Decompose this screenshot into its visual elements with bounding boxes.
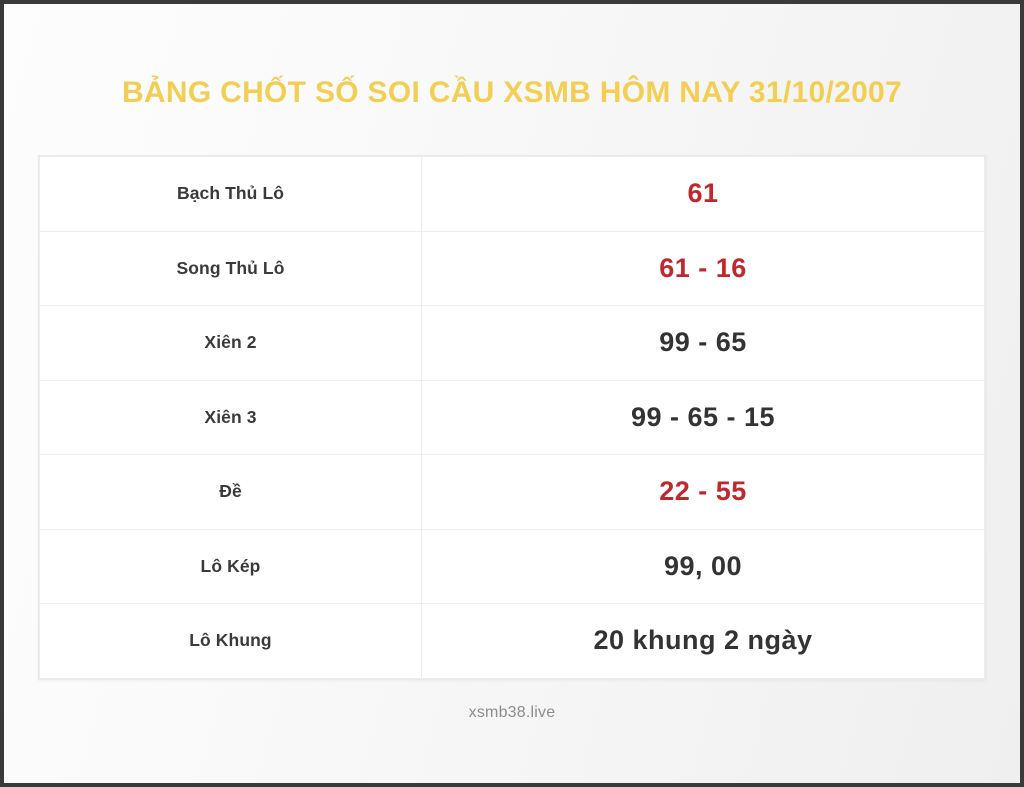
row-label: Bạch Thủ Lô <box>177 183 284 203</box>
row-value-cell: 61 - 16 <box>422 231 985 306</box>
row-label-cell: Song Thủ Lô <box>40 231 422 306</box>
row-value-cell: 61 <box>422 157 985 232</box>
row-label: Lô Khung <box>189 630 271 650</box>
row-value: 61 - 16 <box>659 253 747 283</box>
row-label: Lô Kép <box>201 556 261 576</box>
row-value-cell: 22 - 55 <box>422 455 985 530</box>
row-value-cell: 20 khung 2 ngày <box>422 604 985 679</box>
row-value-cell: 99 - 65 - 15 <box>422 380 985 455</box>
row-value-cell: 99 - 65 <box>422 306 985 381</box>
row-label: Xiên 2 <box>204 332 256 352</box>
row-label-cell: Lô Khung <box>40 604 422 679</box>
row-value: 22 - 55 <box>659 476 747 506</box>
lottery-prediction-card: Bạch Thủ Lô 61 Song Thủ Lô 61 - 16 <box>38 155 986 680</box>
row-label-cell: Xiên 3 <box>40 380 422 455</box>
row-value: 99 - 65 <box>659 327 747 357</box>
table-row: Song Thủ Lô 61 - 16 <box>40 231 985 306</box>
table-row: Xiên 2 99 - 65 <box>40 306 985 381</box>
table-row: Bạch Thủ Lô 61 <box>40 157 985 232</box>
row-value: 61 <box>687 178 718 208</box>
table-row: Đề 22 - 55 <box>40 455 985 530</box>
row-label: Đề <box>219 481 242 501</box>
row-label: Xiên 3 <box>204 407 256 427</box>
site-watermark: xsmb38.live <box>4 704 1020 722</box>
row-value: 20 khung 2 ngày <box>593 625 812 655</box>
table-row: Xiên 3 99 - 65 - 15 <box>40 380 985 455</box>
page-title-container: BẢNG CHỐT SỐ SOI CẦU XSMB HÔM NAY 31/10/… <box>4 76 1020 110</box>
row-value: 99 - 65 - 15 <box>631 402 775 432</box>
prediction-table: Bạch Thủ Lô 61 Song Thủ Lô 61 - 16 <box>39 156 985 679</box>
row-value-cell: 99, 00 <box>422 529 985 604</box>
table-row: Lô Khung 20 khung 2 ngày <box>40 604 985 679</box>
row-label-cell: Đề <box>40 455 422 530</box>
page-frame: BẢNG CHỐT SỐ SOI CẦU XSMB HÔM NAY 31/10/… <box>0 0 1024 787</box>
row-label-cell: Xiên 2 <box>40 306 422 381</box>
page-title: BẢNG CHỐT SỐ SOI CẦU XSMB HÔM NAY 31/10/… <box>4 76 1020 110</box>
row-value: 99, 00 <box>664 551 742 581</box>
prediction-table-body: Bạch Thủ Lô 61 Song Thủ Lô 61 - 16 <box>40 157 985 679</box>
page-canvas: BẢNG CHỐT SỐ SOI CẦU XSMB HÔM NAY 31/10/… <box>4 4 1020 783</box>
row-label: Song Thủ Lô <box>176 258 284 278</box>
row-label-cell: Bạch Thủ Lô <box>40 157 422 232</box>
row-label-cell: Lô Kép <box>40 529 422 604</box>
table-row: Lô Kép 99, 00 <box>40 529 985 604</box>
